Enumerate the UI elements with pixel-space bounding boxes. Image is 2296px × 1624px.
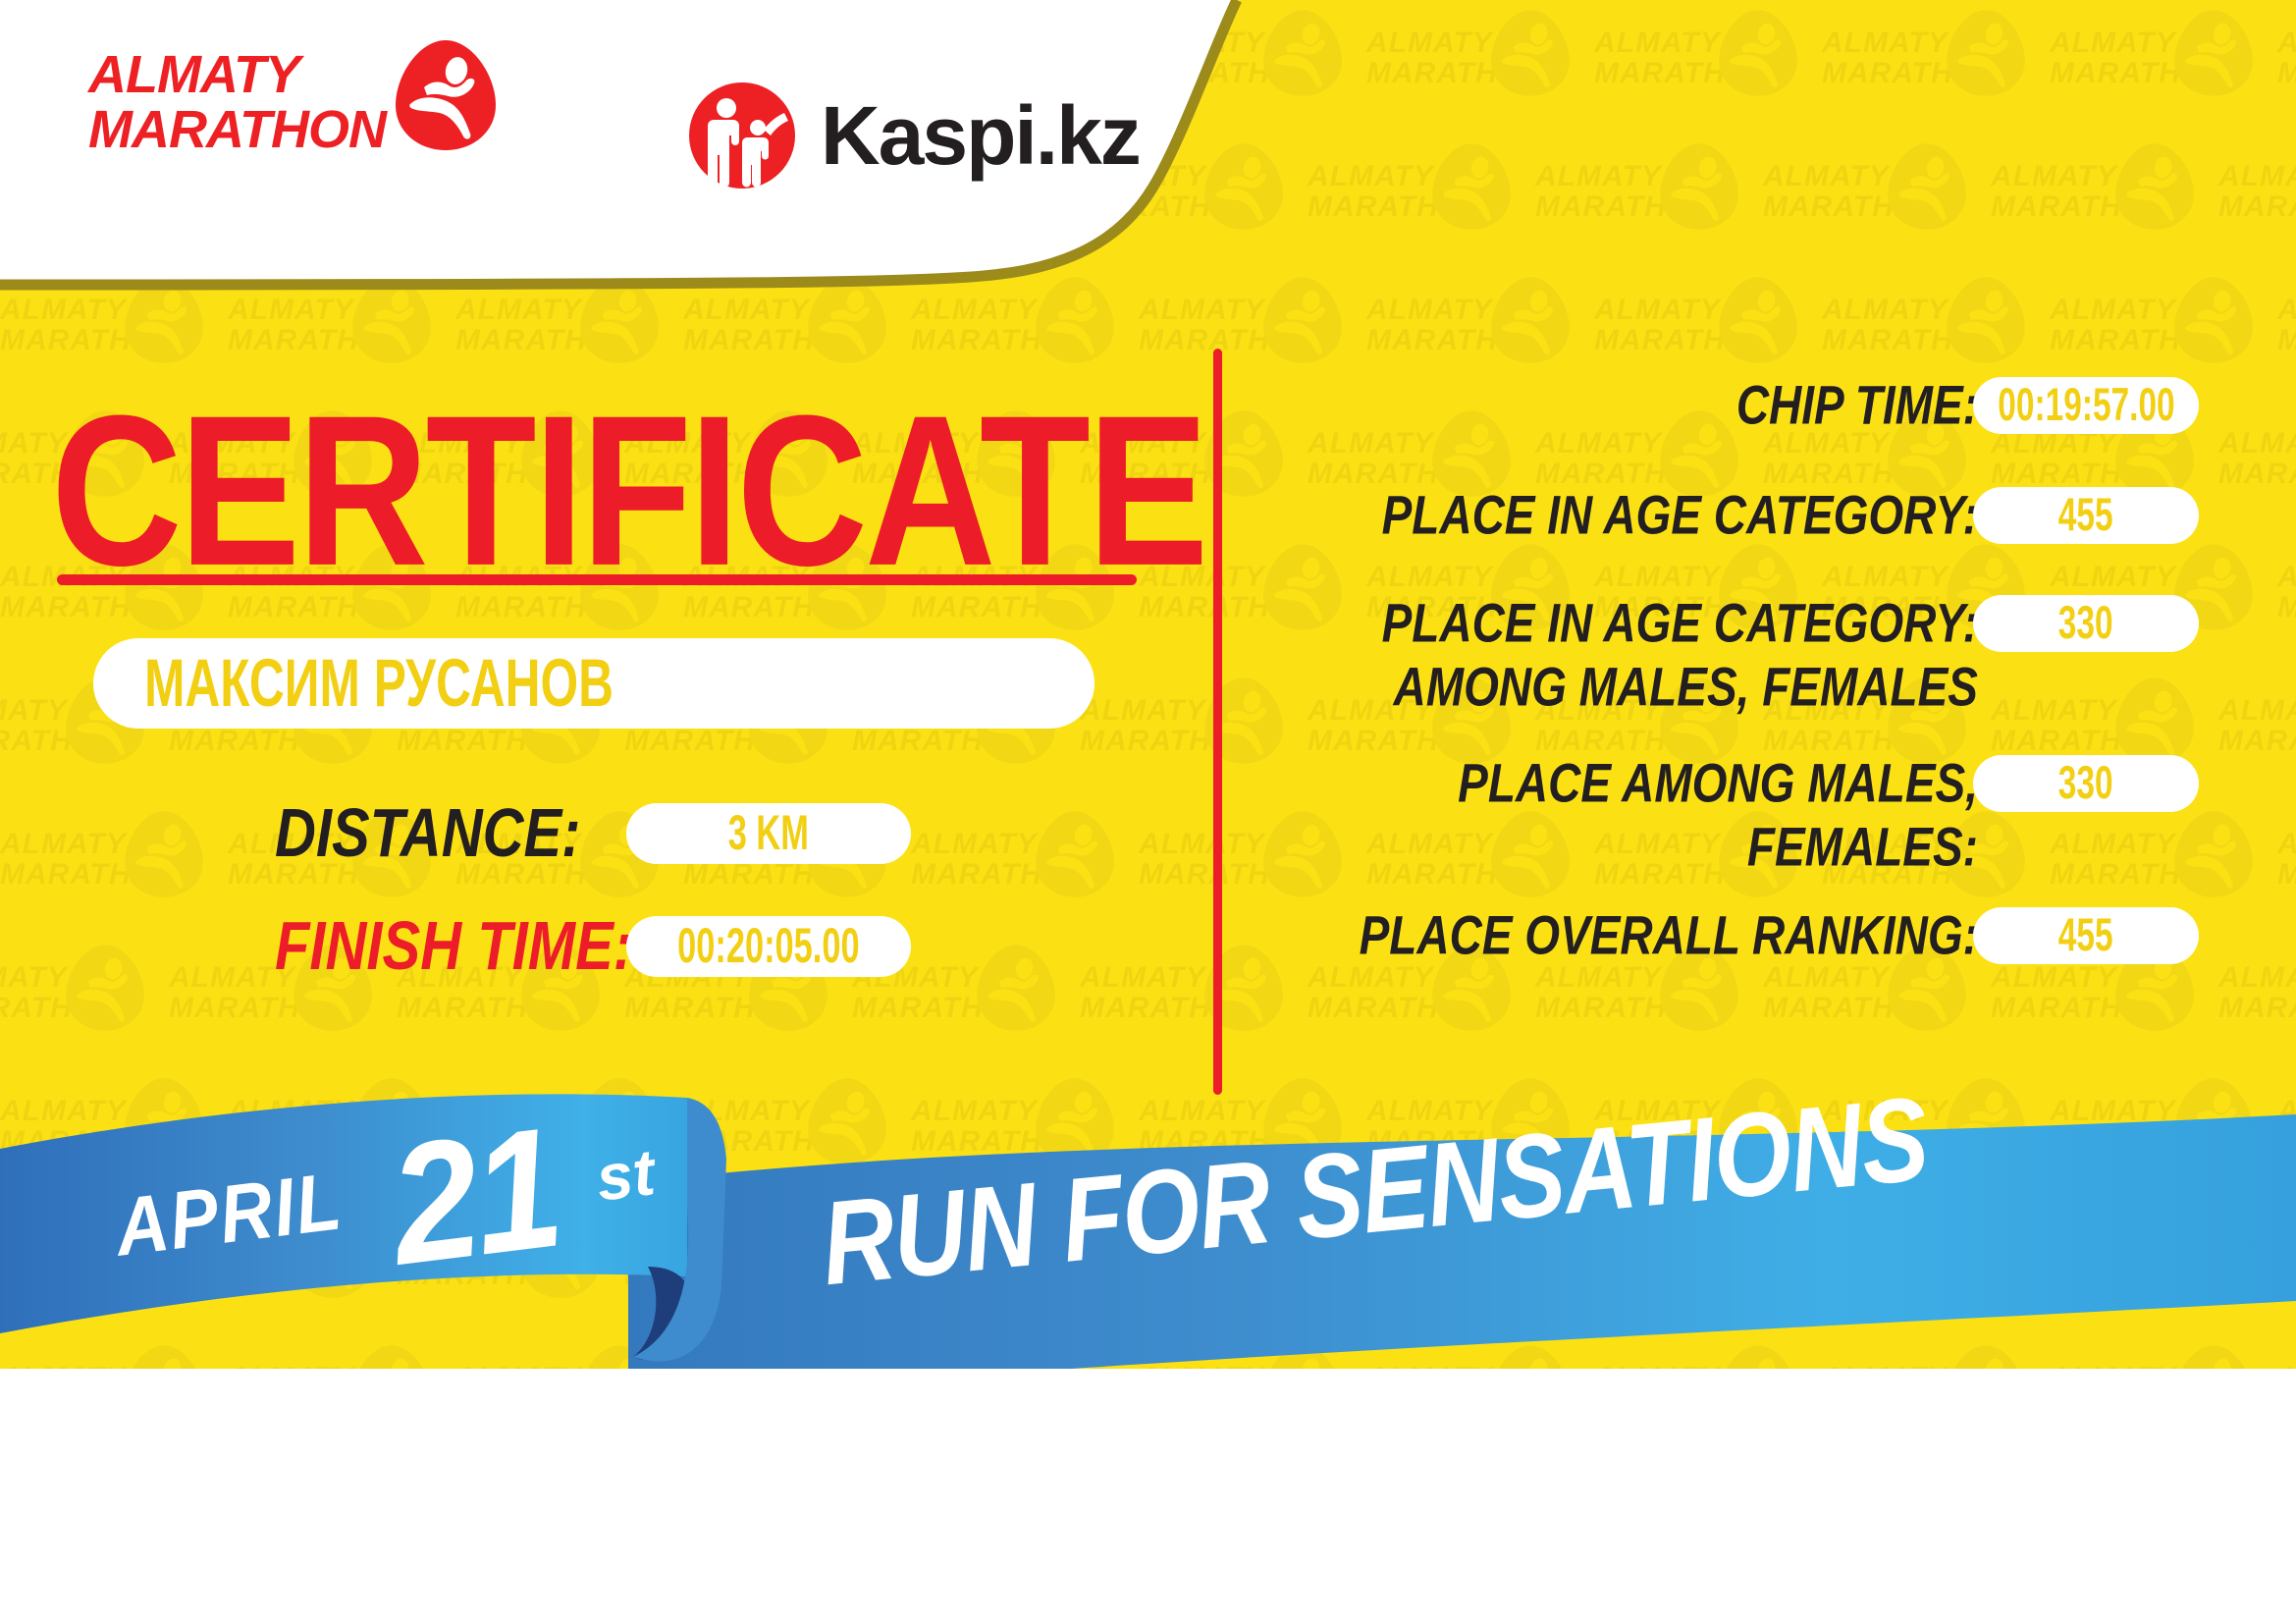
stat-row: PLACE OVERALL RANKING:455 (1276, 903, 2199, 956)
kaspi-family-circle-icon (687, 81, 797, 190)
stat-value: 455 (2058, 909, 2113, 962)
stat-value-field: 330 (1973, 755, 2199, 812)
stat-value: 330 (2058, 757, 2113, 810)
title-underline-rule (57, 574, 1137, 585)
stat-value-field: 455 (1973, 907, 2199, 964)
ribbon-day-number: 21 (382, 1102, 566, 1291)
participant-name-value: МАКСИМ РУСАНОВ (144, 649, 614, 717)
stat-value: 330 (2058, 597, 2113, 650)
distance-value: 3 KM (728, 806, 809, 861)
finish-time-field: 00:20:05.00 (626, 916, 911, 977)
stat-value: 00:19:57.00 (1998, 379, 2174, 432)
stat-row: PLACE IN AGE CATEGORY:AMONG MALES, FEMAL… (1276, 591, 2199, 697)
stat-label: PLACE IN AGE CATEGORY: (1276, 483, 1978, 547)
stat-label: PLACE AMONG MALES,FEMALES: (1276, 751, 1978, 879)
kaspi-logo: Kaspi.kz (687, 81, 1140, 190)
certificate-page: ALMATYMARATHONALMATYMARATHONALMATYMARATH… (0, 0, 2296, 1624)
stat-value-field: 00:19:57.00 (1973, 377, 2199, 434)
stat-row: PLACE IN AGE CATEGORY:455 (1276, 483, 2199, 536)
vertical-divider (1213, 349, 1222, 1095)
stat-row: PLACE AMONG MALES,FEMALES:330 (1276, 751, 2199, 857)
stat-label: CHIP TIME: (1276, 373, 1978, 437)
stat-label-line: PLACE OVERALL RANKING: (1276, 903, 1978, 967)
stat-label-line: PLACE IN AGE CATEGORY: (1276, 591, 1978, 655)
almaty-marathon-logo: ALMATY MARATHON (88, 47, 500, 157)
stat-value-field: 330 (1973, 595, 2199, 652)
stat-label: PLACE OVERALL RANKING: (1276, 903, 1978, 967)
stat-row: CHIP TIME:00:19:57.00 (1276, 373, 2199, 426)
kaspi-wordmark: Kaspi.kz (821, 94, 1140, 177)
almaty-logo-line1: ALMATY (88, 47, 386, 102)
almaty-marathon-wordmark: ALMATY MARATHON (88, 47, 386, 157)
distance-label: DISTANCE: (275, 799, 580, 868)
stat-label-line: PLACE AMONG MALES, (1276, 751, 1978, 815)
participant-name-field: МАКСИМ РУСАНОВ (93, 638, 1095, 729)
stat-label: PLACE IN AGE CATEGORY:AMONG MALES, FEMAL… (1276, 591, 1978, 719)
stat-label-line: CHIP TIME: (1276, 373, 1978, 437)
distance-field: 3 KM (626, 803, 911, 864)
ribbon-day-ordinal: st (592, 1134, 659, 1216)
page-title: CERTIFICATE (51, 385, 1205, 599)
finish-time-value: 00:20:05.00 (677, 919, 860, 974)
almaty-logo-line2: MARATHON (88, 102, 386, 157)
stat-label-line: FEMALES: (1276, 815, 1978, 879)
stat-label-line: AMONG MALES, FEMALES (1276, 655, 1978, 719)
runner-teardrop-icon (392, 36, 500, 154)
finish-time-label: FINISH TIME: (275, 912, 632, 981)
stat-label-line: PLACE IN AGE CATEGORY: (1276, 483, 1978, 547)
stat-value: 455 (2058, 489, 2113, 542)
stat-value-field: 455 (1973, 487, 2199, 544)
sponsor-footer (0, 1369, 2296, 1624)
